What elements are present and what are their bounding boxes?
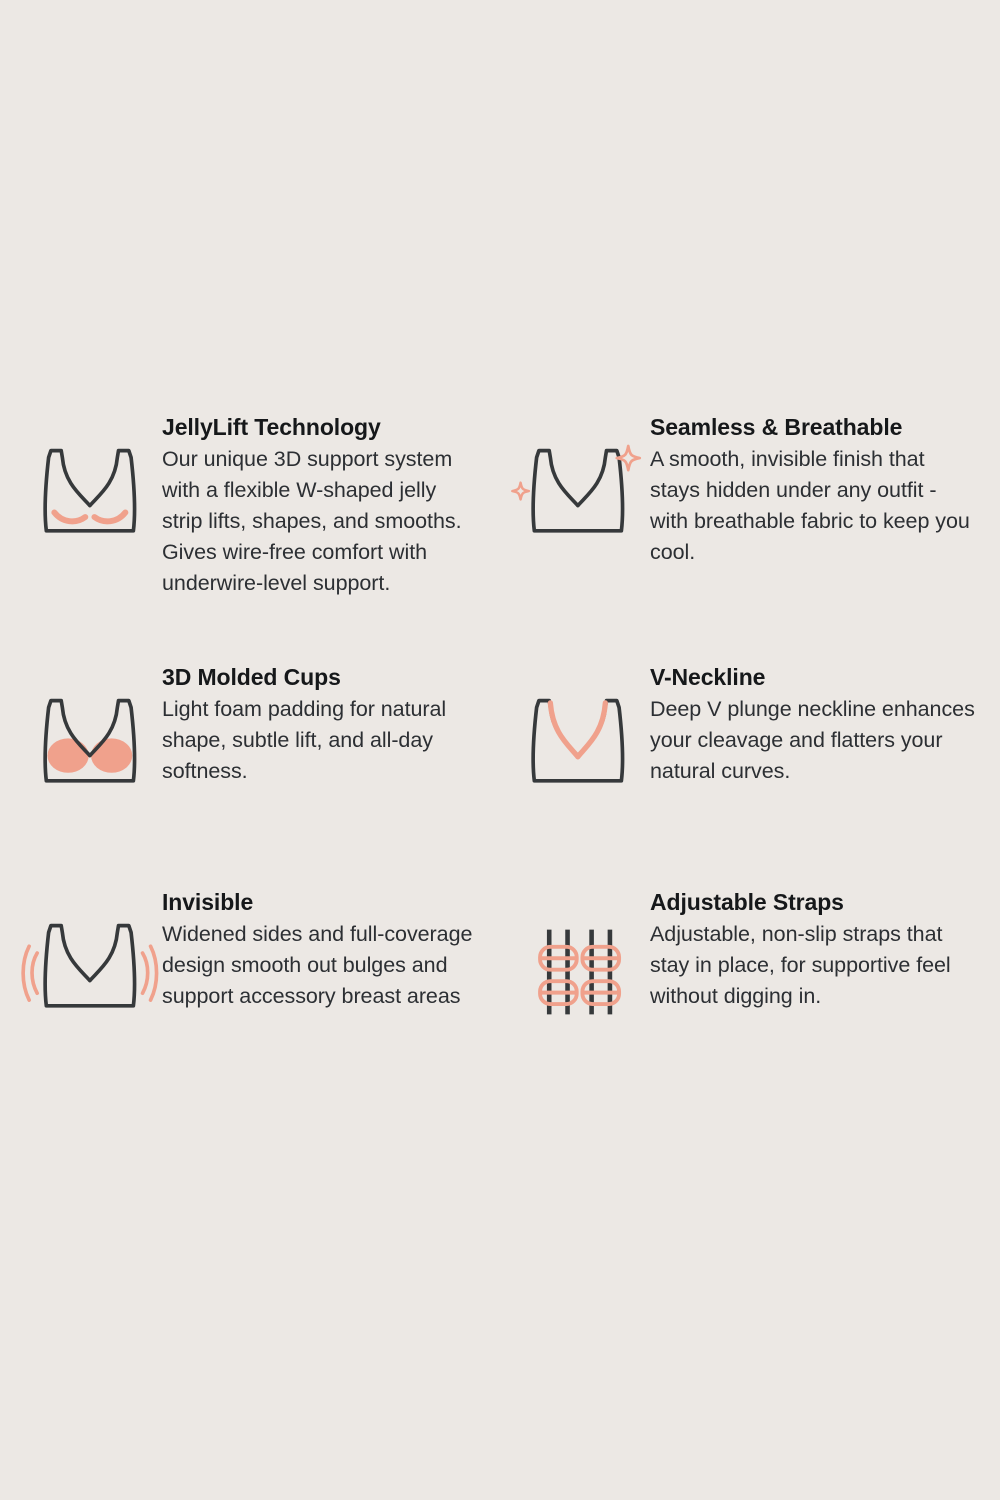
feature-title: JellyLift Technology bbox=[162, 412, 480, 442]
feature-item-jellylift-technology: JellyLift Technology Our unique 3D suppo… bbox=[0, 400, 480, 650]
feature-title: Invisible bbox=[162, 887, 480, 917]
adjustable-straps-icon bbox=[516, 909, 642, 1035]
feature-description: Deep V plunge neckline enhances your cle… bbox=[650, 694, 980, 787]
bra-molded-cups-icon bbox=[28, 680, 154, 806]
feature-item-3d-molded-cups: 3D Molded Cups Light foam padding for na… bbox=[0, 650, 480, 875]
feature-description: Light foam padding for natural shape, su… bbox=[162, 694, 480, 787]
feature-text-block: V-Neckline Deep V plunge neckline enhanc… bbox=[642, 650, 980, 787]
feature-title: 3D Molded Cups bbox=[162, 662, 480, 692]
feature-title: Adjustable Straps bbox=[650, 887, 980, 917]
feature-title: V-Neckline bbox=[650, 662, 980, 692]
feature-description: A smooth, invisible finish that stays hi… bbox=[650, 444, 980, 568]
bra-jelly-strip-icon bbox=[28, 430, 154, 556]
feature-title: Seamless & Breathable bbox=[650, 412, 980, 442]
bra-invisible-waves-icon bbox=[28, 905, 154, 1031]
feature-item-seamless-breathable: Seamless & Breathable A smooth, invisibl… bbox=[500, 400, 980, 650]
feature-text-block: Invisible Widened sides and full-coverag… bbox=[154, 875, 480, 1012]
feature-list-page: JellyLift Technology Our unique 3D suppo… bbox=[0, 0, 1000, 1500]
bra-v-neckline-icon bbox=[516, 680, 642, 806]
feature-text-block: JellyLift Technology Our unique 3D suppo… bbox=[154, 400, 480, 599]
features-grid: JellyLift Technology Our unique 3D suppo… bbox=[0, 400, 1000, 1075]
feature-text-block: Adjustable Straps Adjustable, non-slip s… bbox=[642, 875, 980, 1012]
feature-description: Adjustable, non-slip straps that stay in… bbox=[650, 919, 980, 1012]
feature-item-v-neckline: V-Neckline Deep V plunge neckline enhanc… bbox=[500, 650, 980, 875]
feature-item-invisible: Invisible Widened sides and full-coverag… bbox=[0, 875, 480, 1075]
bra-sparkles-icon bbox=[516, 430, 642, 556]
feature-text-block: Seamless & Breathable A smooth, invisibl… bbox=[642, 400, 980, 568]
feature-text-block: 3D Molded Cups Light foam padding for na… bbox=[154, 650, 480, 787]
feature-description: Widened sides and full-coverage design s… bbox=[162, 919, 480, 1012]
feature-item-adjustable-straps: Adjustable Straps Adjustable, non-slip s… bbox=[500, 875, 980, 1075]
feature-description: Our unique 3D support system with a flex… bbox=[162, 444, 480, 599]
